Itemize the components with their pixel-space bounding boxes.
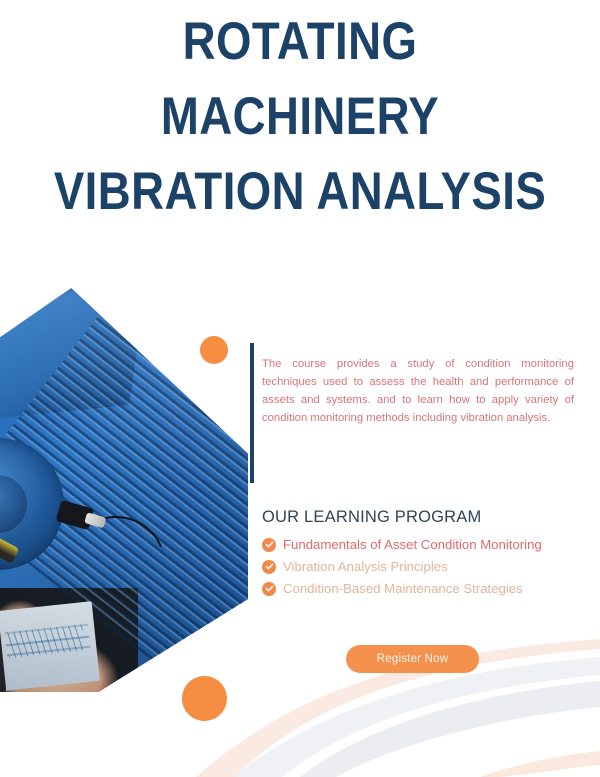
program-list: Fundamentals of Asset Condition Monitori…	[262, 536, 592, 597]
title-line-3: VIBRATION ANALYSIS	[42, 164, 558, 219]
list-item: Fundamentals of Asset Condition Monitori…	[262, 536, 592, 553]
body-paragraph: The course provides a study of condition…	[262, 355, 574, 427]
list-item-label: Vibration Analysis Principles	[283, 558, 448, 575]
accent-rule	[250, 343, 254, 483]
program-heading: OUR LEARNING PROGRAM	[262, 508, 592, 527]
check-circle-icon	[262, 538, 276, 552]
swoosh-grey-inner	[232, 657, 600, 777]
poster-canvas: ROTATING MACHINERY VIBRATION ANALYSIS Th…	[0, 0, 600, 777]
title-line-1: ROTATING	[42, 14, 558, 69]
swoosh-grey-outer	[300, 681, 600, 777]
list-item-label: Fundamentals of Asset Condition Monitori…	[283, 536, 542, 553]
check-circle-icon	[262, 582, 276, 596]
register-now-button[interactable]: Register Now	[346, 645, 479, 673]
check-circle-icon	[262, 560, 276, 574]
orange-dot-icon	[182, 676, 227, 721]
orange-dot-icon	[200, 336, 228, 364]
list-item: Vibration Analysis Principles	[262, 558, 592, 575]
title-line-2: MACHINERY	[42, 89, 558, 144]
swoosh-peach-lower	[480, 751, 600, 777]
page-title: ROTATING MACHINERY VIBRATION ANALYSIS	[0, 14, 600, 219]
list-item-label: Condition-Based Maintenance Strategies	[283, 580, 523, 597]
list-item: Condition-Based Maintenance Strategies	[262, 580, 592, 597]
data-collector-screen	[0, 601, 100, 691]
learning-program-section: OUR LEARNING PROGRAM Fundamentals of Ass…	[262, 508, 592, 602]
